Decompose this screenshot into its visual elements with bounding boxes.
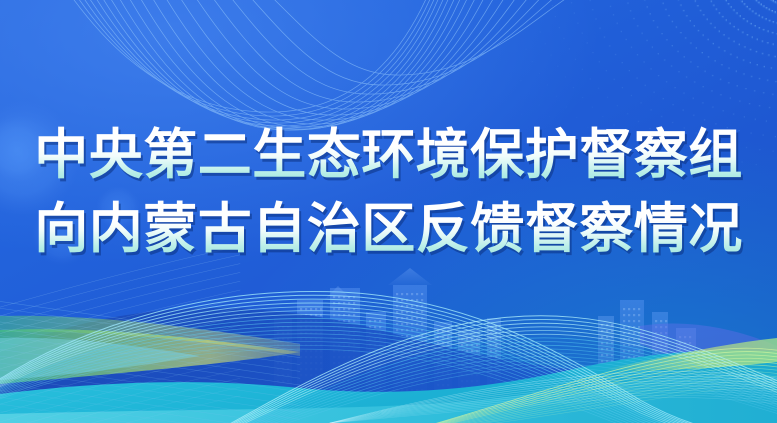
wave-cyan-main xyxy=(0,350,777,423)
news-banner-image: 中央第二生态环境保护督察组 向内蒙古自治区反馈督察情况 xyxy=(0,0,777,423)
banner-title: 中央第二生态环境保护督察组 向内蒙古自治区反馈督察情况 xyxy=(0,118,777,266)
wave-green-band-right xyxy=(600,338,777,371)
wave-violet-accent xyxy=(640,323,777,392)
wave-dark-band xyxy=(0,308,777,423)
wave-green-band-left-2 xyxy=(0,316,300,356)
wave-cyan-highlight xyxy=(0,374,777,423)
banner-title-line-2: 向内蒙古自治区反馈督察情况 xyxy=(0,192,777,266)
banner-title-line-1: 中央第二生态环境保护督察组 xyxy=(0,118,777,192)
wave-pale-left-wedge xyxy=(0,338,200,380)
wave-green-band-left xyxy=(0,329,300,384)
